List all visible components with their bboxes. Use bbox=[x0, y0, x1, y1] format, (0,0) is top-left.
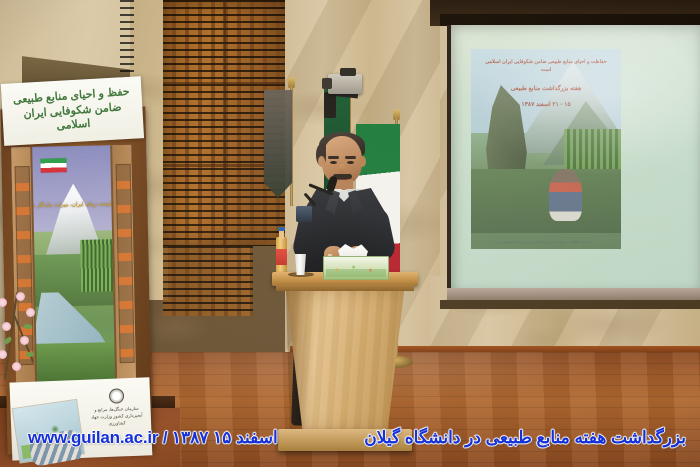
speaker-eyebrow-left bbox=[328, 156, 339, 159]
banner-headline-panel: حفظ و احیای منابع طبیعی ضامن شکوفایی ایر… bbox=[1, 76, 144, 146]
tissue-box bbox=[323, 256, 389, 280]
screen-glare bbox=[451, 25, 700, 295]
panel-seam-vertical bbox=[223, 0, 226, 246]
photograph: حفاظت و احیای منابع طبیعی ضامن شکوفایی ا… bbox=[0, 0, 700, 467]
speaker-eye-left bbox=[330, 161, 337, 164]
microphone-gooseneck-lower bbox=[304, 193, 317, 207]
overlay-event-caption: بزرگداشت هفته منابع طبیعی در دانشگاه گیل… bbox=[364, 428, 686, 448]
speaker-eye-right bbox=[347, 161, 354, 164]
camera-wall-mount bbox=[324, 92, 336, 118]
standing-banner: طبیعت زیبای ایران، میراث ماندگار ما سازم… bbox=[0, 107, 152, 455]
blossom-flower bbox=[26, 308, 35, 317]
blossom-branch bbox=[0, 292, 48, 382]
acoustic-wood-panel-lower bbox=[163, 246, 253, 316]
speaker-ear-right bbox=[359, 156, 366, 167]
podium-lip bbox=[276, 285, 414, 291]
blossom-flower bbox=[12, 362, 21, 371]
microphone-base bbox=[296, 206, 312, 222]
banner-bottom-panel: سازمان جنگل‌ها، مراتع و آبخیزداری کشور و… bbox=[9, 377, 152, 460]
blossom-leaf bbox=[26, 351, 35, 357]
speaker-ear-left bbox=[318, 156, 325, 167]
bottle-cap bbox=[278, 227, 285, 231]
podium-shadow-side bbox=[286, 291, 314, 431]
beverage-bottle bbox=[276, 227, 287, 275]
overlay-url-and-date: www.guilan.ac.ir / ۱۳۸۷ اسفند ۱۵ bbox=[28, 428, 278, 448]
banner-headline-text: حفظ و احیای منابع طبیعی ضامن شکوفایی ایر… bbox=[0, 75, 144, 147]
tissue-box-artwork bbox=[326, 259, 386, 277]
blossom-flower bbox=[2, 322, 11, 331]
blossom-flower bbox=[0, 298, 7, 307]
projection-screen: حفاظت و احیای منابع طبیعی ضامن شکوفایی ا… bbox=[447, 25, 700, 295]
organization-seal-icon bbox=[108, 388, 124, 404]
camera-top-handle bbox=[340, 68, 356, 76]
banner-logo-text: سازمان جنگل‌ها، مراتع و آبخیزداری کشور و… bbox=[91, 406, 143, 426]
blossom-flower bbox=[20, 336, 29, 345]
blossom-flower bbox=[16, 292, 25, 301]
blossom-leaf bbox=[23, 323, 32, 330]
screen-bottom-bar bbox=[447, 288, 700, 300]
iran-flag-icon bbox=[40, 158, 66, 173]
panel-slots bbox=[163, 246, 253, 316]
screen-frame-bottom bbox=[440, 300, 700, 309]
video-camera-icon bbox=[322, 68, 368, 102]
banner-organization-logo: سازمان جنگل‌ها، مراتع و آبخیزداری کشور و… bbox=[90, 388, 143, 428]
microphone-icon bbox=[300, 176, 346, 234]
speaker-eyebrow-right bbox=[345, 156, 356, 159]
camera-body bbox=[328, 74, 362, 94]
bottle-label bbox=[276, 249, 287, 265]
camera-lens bbox=[322, 78, 332, 89]
speaker-nose bbox=[339, 164, 345, 173]
podium-lectern bbox=[272, 272, 418, 454]
